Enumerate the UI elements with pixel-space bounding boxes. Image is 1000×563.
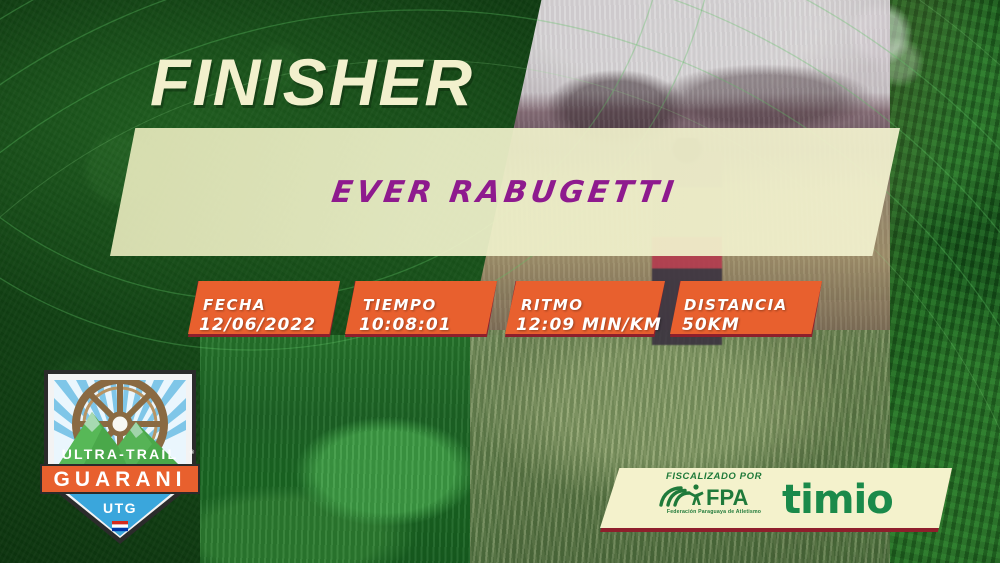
stat-label-tiempo: TIEMPO [363,296,437,314]
page-title: FINISHER [150,44,474,120]
stat-value-ritmo: 12:09 MIN/KM [516,315,662,335]
badge-registered-mark: ® [190,449,195,456]
fpa-wordmark: FPA [706,485,748,509]
stat-label-ritmo: RITMO [521,296,584,314]
badge-brand-text: ULTRA-TRAIL [62,446,178,462]
waterfall-photo [200,335,500,563]
stat-value-fecha: 12/06/2022 [199,315,316,335]
stat-value-distancia: 50KM [682,315,740,335]
stat-value-tiempo: 10:08:01 [359,315,452,335]
paraguay-flag-icon [112,521,128,531]
stats-row: FECHA 12/06/2022 TIEMPO 10:08:01 RITMO 1… [0,281,1000,339]
sponsor-band-content: FISCALIZADO POR FPA [600,468,952,528]
stat-label-fecha: FECHA [203,296,266,314]
ultra-trail-guarani-badge: ULTRA-TRAIL ® GUARANI UTG [32,358,208,554]
timio-logo: timio [782,477,893,523]
badge-race-text: GUARANI [54,468,187,491]
fpa-full-name: Federación Paraguaya de Atletismo [655,509,773,515]
name-band-content: EVER RABUGETTI [110,128,900,256]
fpa-logo: FPA [655,483,773,509]
athlete-name: EVER RABUGETTI [330,175,680,210]
badge-abbreviation-text: UTG [103,500,137,516]
finisher-card: FINISHER EVER RABUGETTI FECHA 12/06/2022… [0,0,1000,563]
stat-label-distancia: DISTANCIA [684,296,788,314]
sanction-label: FISCALIZADO POR [655,471,773,482]
fpa-sponsor-block: FISCALIZADO POR FPA [655,471,773,515]
runner-figure-icon [688,484,703,505]
